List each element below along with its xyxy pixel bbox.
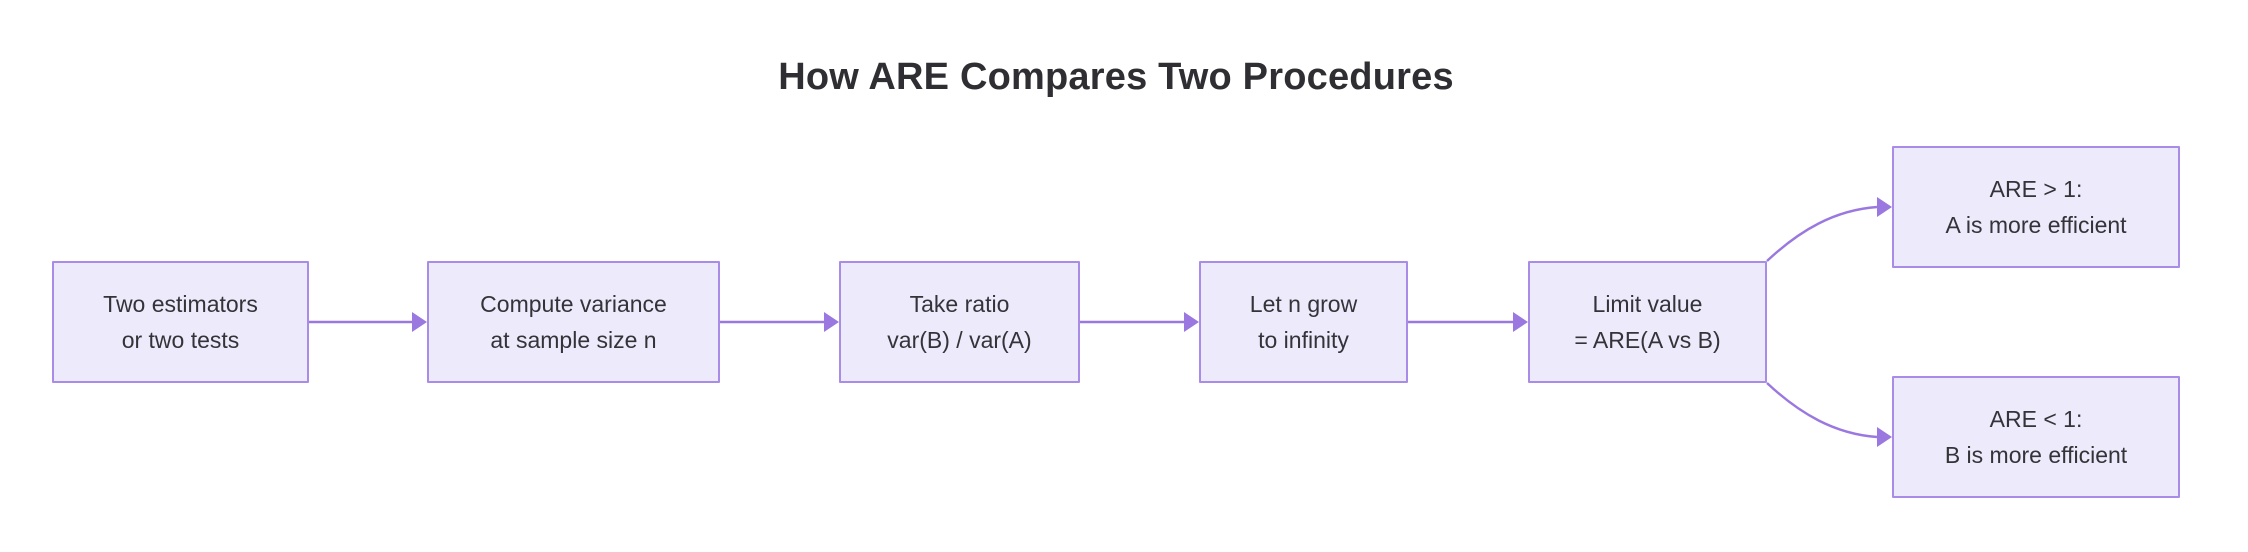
node-line-1: Limit value: [1593, 286, 1703, 322]
node-line-2: A is more efficient: [1945, 207, 2126, 243]
node-line-2: at sample size n: [490, 322, 656, 358]
node-line-1: Let n grow: [1250, 286, 1357, 322]
edge-let-n-grow-to-limit-value: [1408, 312, 1528, 332]
node-compute-variance[interactable]: Compute variance at sample size n: [427, 261, 720, 383]
node-line-2: to infinity: [1258, 322, 1349, 358]
node-take-ratio[interactable]: Take ratio var(B) / var(A): [839, 261, 1080, 383]
node-line-1: ARE > 1:: [1990, 171, 2083, 207]
node-line-1: ARE < 1:: [1990, 401, 2083, 437]
node-line-2: or two tests: [122, 322, 240, 358]
node-line-2: B is more efficient: [1945, 437, 2127, 473]
node-line-1: Compute variance: [480, 286, 667, 322]
edge-two-estimators-to-compute-variance: [309, 312, 427, 332]
node-line-1: Take ratio: [910, 286, 1010, 322]
edge-take-ratio-to-let-n-grow: [1080, 312, 1199, 332]
node-are-less-than-one[interactable]: ARE < 1: B is more efficient: [1892, 376, 2180, 498]
edge-compute-variance-to-take-ratio: [720, 312, 839, 332]
node-two-estimators[interactable]: Two estimators or two tests: [52, 261, 309, 383]
edge-limit-value-to-are-less: [1767, 383, 1892, 447]
diagram-canvas: How ARE Compares Two Procedures: [0, 0, 2248, 552]
node-are-greater-than-one[interactable]: ARE > 1: A is more efficient: [1892, 146, 2180, 268]
node-line-1: Two estimators: [103, 286, 258, 322]
node-limit-value[interactable]: Limit value = ARE(A vs B): [1528, 261, 1767, 383]
edge-limit-value-to-are-greater: [1767, 197, 1892, 261]
node-line-2: = ARE(A vs B): [1574, 322, 1720, 358]
page-title: How ARE Compares Two Procedures: [0, 56, 2232, 99]
node-line-2: var(B) / var(A): [887, 322, 1031, 358]
node-let-n-grow[interactable]: Let n grow to infinity: [1199, 261, 1408, 383]
